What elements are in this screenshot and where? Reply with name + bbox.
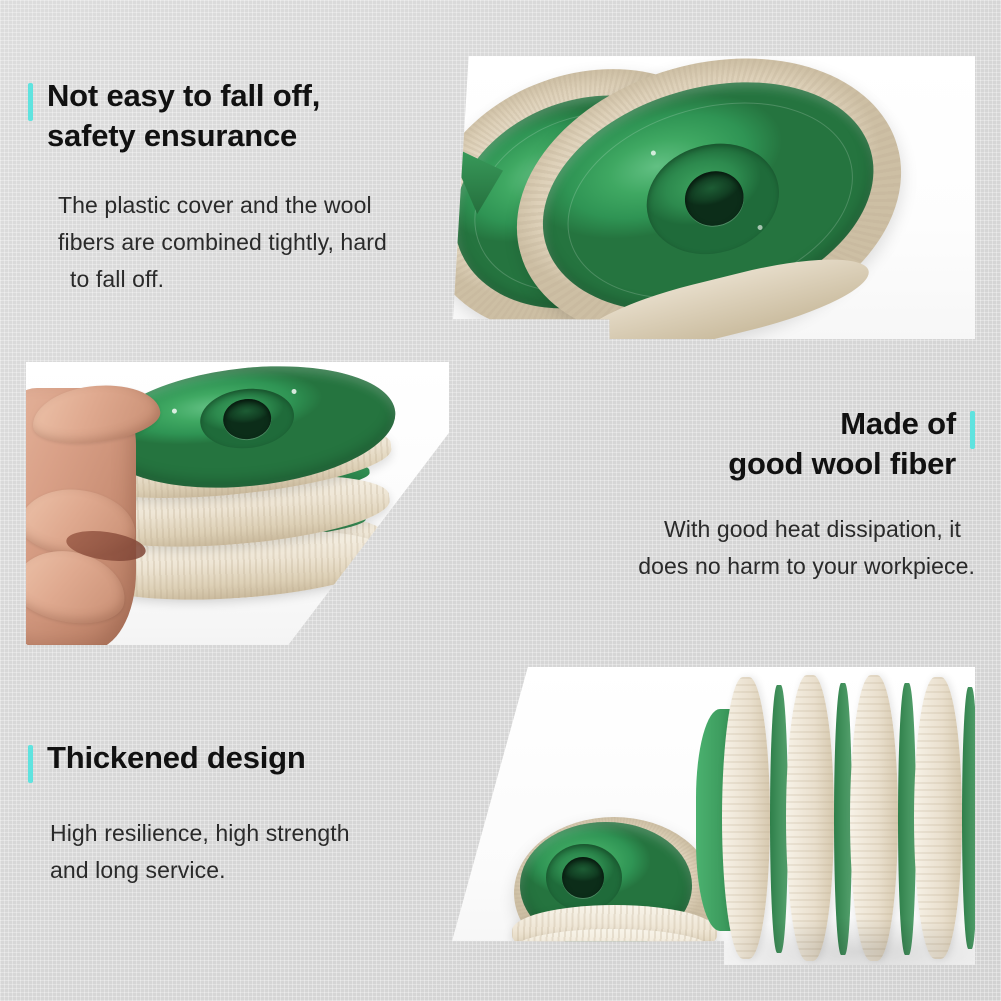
photo-disc-row-stage: [452, 667, 975, 965]
disc-face-up: [514, 817, 714, 965]
photo-two-discs: [453, 56, 975, 339]
feature-3-body-line-1: High resilience, high strength: [50, 815, 490, 852]
feature-1-heading-line-1: Not easy to fall off,: [47, 76, 320, 116]
upright-gap-4: [962, 687, 975, 949]
feature-3-body: High resilience, high strength and long …: [50, 815, 490, 890]
center-bore: [562, 857, 604, 898]
feature-3-heading: Thickened design: [28, 738, 488, 783]
feature-2-heading: Made of good wool fiber: [475, 404, 975, 485]
feature-1-heading: Not easy to fall off, safety ensurance: [28, 76, 448, 157]
feature-3-heading-line-1: Thickened design: [47, 738, 306, 778]
feature-1-body-line-3: to fall off.: [58, 261, 458, 298]
feature-2-body: With good heat dissipation, it does no h…: [475, 511, 975, 586]
feature-2-heading-text: Made of good wool fiber: [728, 404, 956, 485]
feature-1-body-line-1: The plastic cover and the wool: [58, 187, 458, 224]
disc-face-up-felt2: [510, 929, 715, 965]
feature-2-body-line-1: With good heat dissipation, it: [475, 511, 975, 548]
accent-bar-icon: [28, 83, 33, 121]
upright-pad-1: [722, 677, 770, 959]
accent-bar-icon: [28, 745, 33, 783]
photo-hand-stack-stage: [26, 362, 449, 645]
feature-1-heading-text: Not easy to fall off, safety ensurance: [47, 76, 320, 157]
feature-1-body-line-2: fibers are combined tightly, hard: [58, 224, 458, 261]
upright-pad-4: [914, 677, 962, 959]
accent-bar-icon: [970, 411, 975, 449]
infographic-page: Not easy to fall off, safety ensurance T…: [0, 0, 1001, 1001]
feature-block-1: Not easy to fall off, safety ensurance T…: [28, 76, 448, 298]
feature-2-body-line-2: does no harm to your workpiece.: [475, 548, 975, 585]
feature-1-body: The plastic cover and the wool fibers ar…: [58, 187, 458, 299]
feature-block-3: Thickened design High resilience, high s…: [28, 738, 488, 890]
feature-block-2: Made of good wool fiber With good heat d…: [475, 404, 975, 585]
photo-disc-row: [452, 667, 975, 965]
feature-2-heading-line-1: Made of: [728, 404, 956, 444]
feature-1-heading-line-2: safety ensurance: [47, 116, 320, 156]
feature-3-heading-text: Thickened design: [47, 738, 306, 778]
feature-3-body-line-2: and long service.: [50, 852, 490, 889]
photo-hand-stack: [26, 362, 449, 645]
feature-2-heading-line-2: good wool fiber: [728, 444, 956, 484]
photo-two-discs-stage: [453, 56, 975, 339]
